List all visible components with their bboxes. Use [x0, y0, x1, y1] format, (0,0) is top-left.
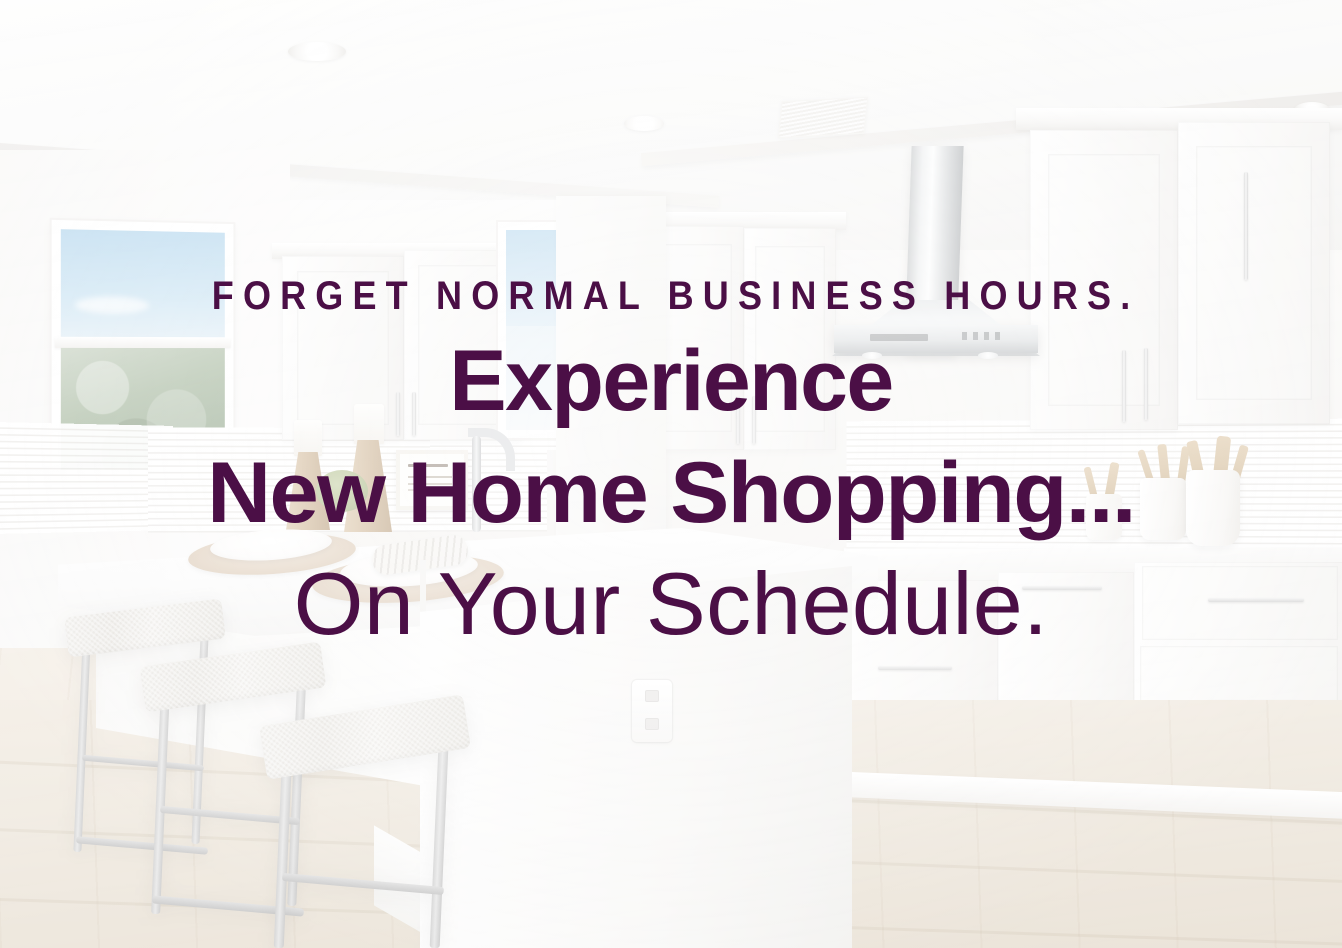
- electrical-outlet-icon: [632, 680, 672, 742]
- headline-line-3: On Your Schedule.: [0, 536, 1342, 648]
- cabinet-pull-icon: [878, 666, 952, 670]
- promo-copy: FORGET NORMAL BUSINESS HOURS. Experience…: [0, 0, 1342, 648]
- headline-line-2: New Home Shopping...: [0, 424, 1342, 536]
- outlet-socket: [645, 718, 659, 730]
- headline-line-1: Experience: [0, 316, 1342, 424]
- promo-banner: FORGET NORMAL BUSINESS HOURS. Experience…: [0, 0, 1342, 948]
- outlet-socket: [645, 690, 659, 702]
- eyebrow-text: FORGET NORMAL BUSINESS HOURS.: [67, 0, 1275, 316]
